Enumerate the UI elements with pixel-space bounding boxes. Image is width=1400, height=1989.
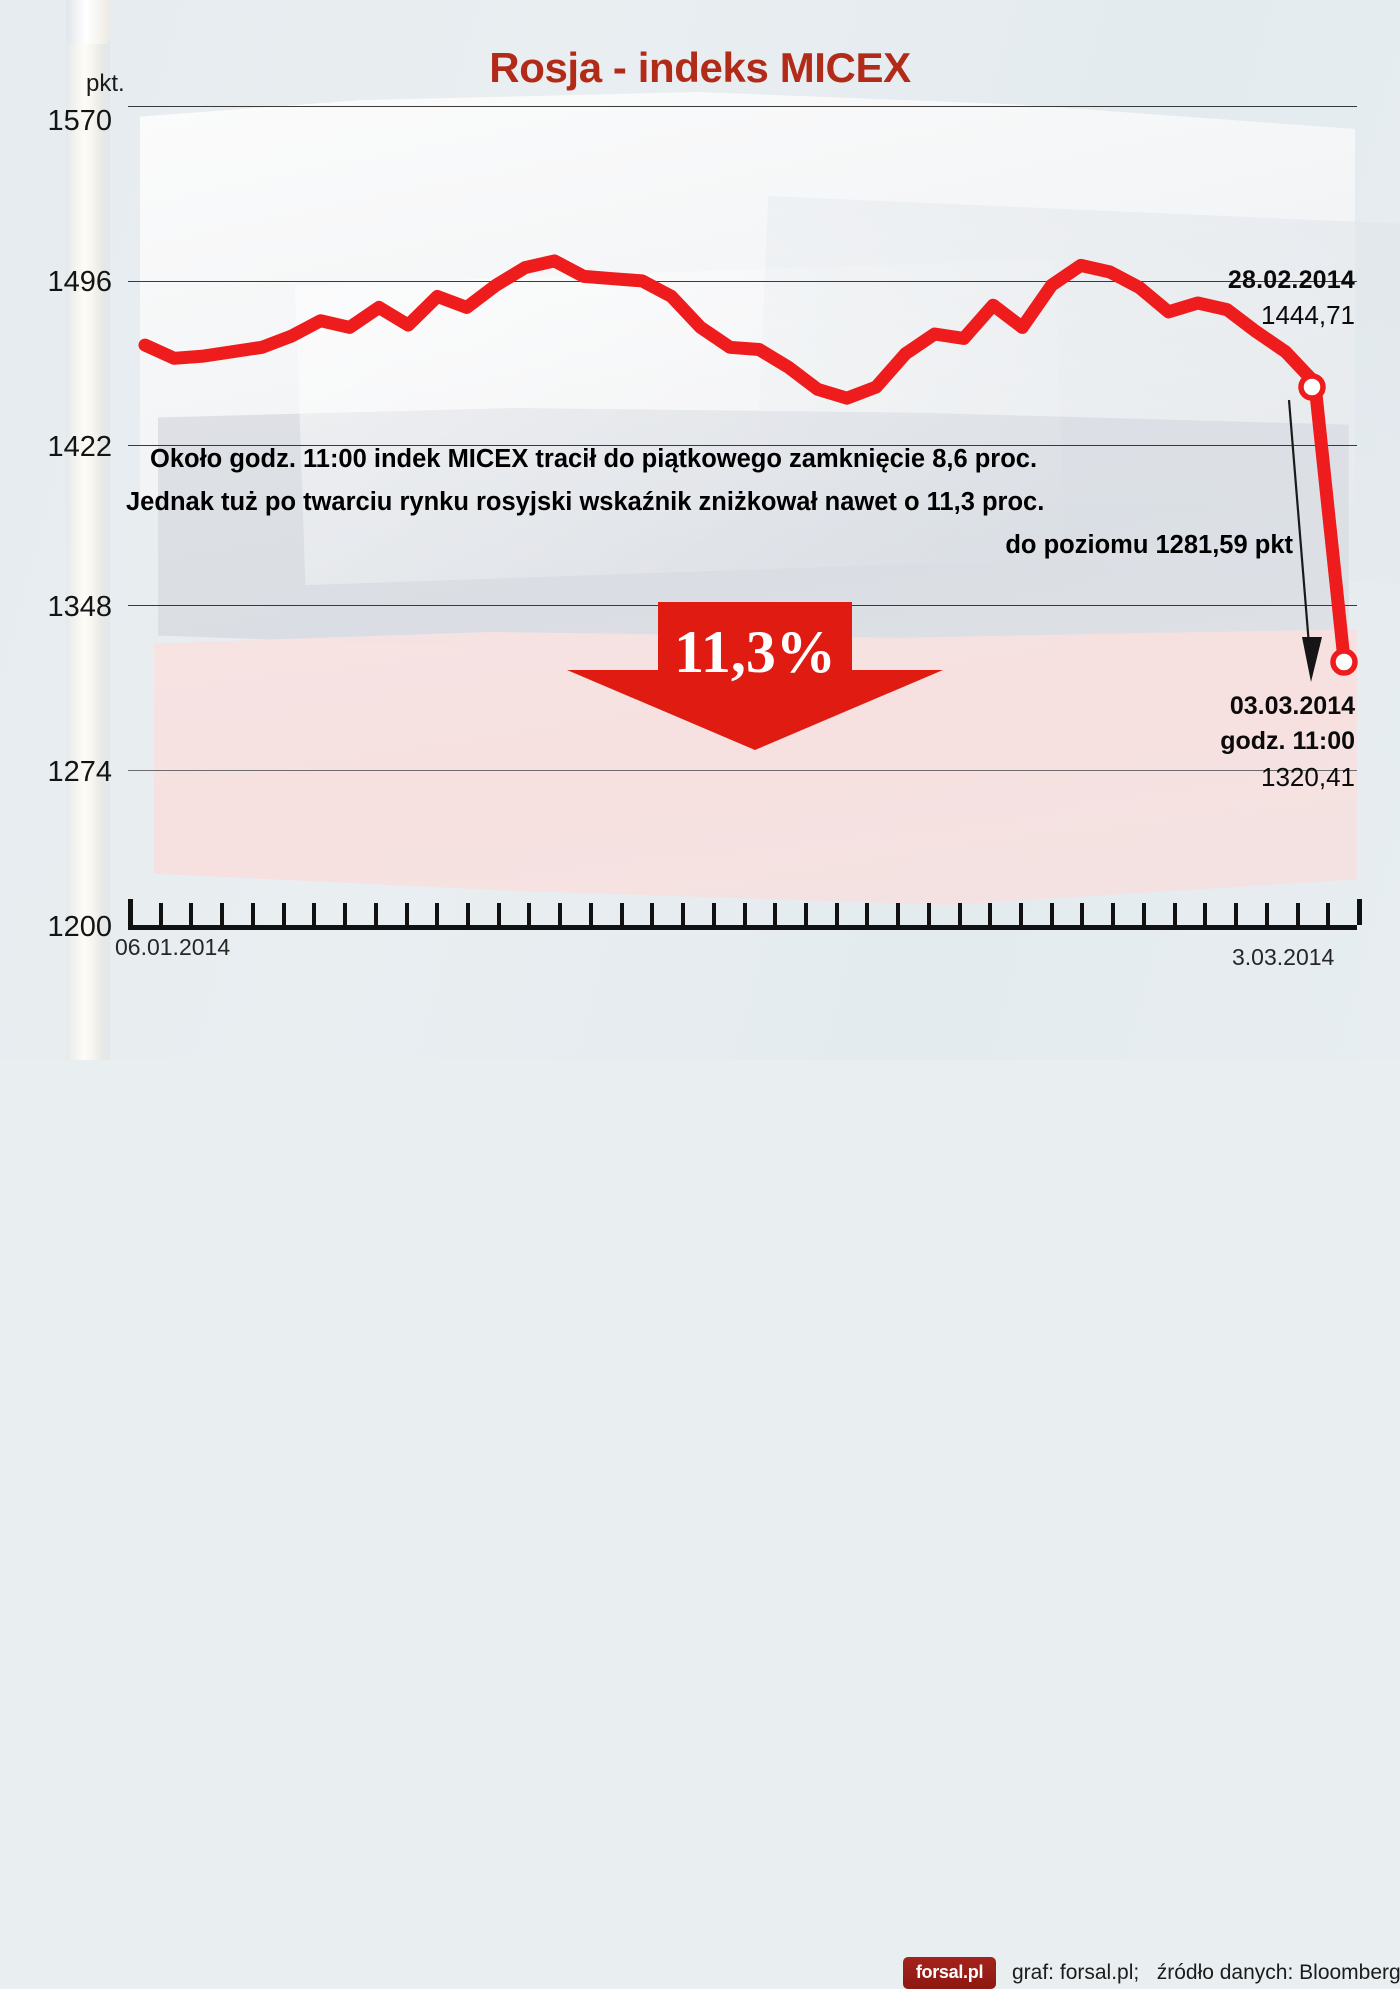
x-axis-tick xyxy=(1080,903,1084,925)
x-axis-tick xyxy=(1050,903,1054,925)
x-axis-tick xyxy=(558,903,562,925)
x-axis-tick xyxy=(343,903,347,925)
x-axis-tick xyxy=(712,903,716,925)
x-axis-tick xyxy=(251,903,255,925)
x-axis-tick xyxy=(374,903,378,925)
x-axis-tick xyxy=(312,903,316,925)
x-axis-tick xyxy=(927,903,931,925)
x-axis-line xyxy=(128,925,1357,930)
x-axis-tick xyxy=(189,903,193,925)
callout-current-value: 03.03.2014 godz. 11:00 1320,41 xyxy=(1105,692,1355,793)
annotation-line-3: do poziomu 1281,59 pkt xyxy=(120,524,1295,567)
x-axis-tick xyxy=(405,903,409,925)
forsal-logo-text: forsal.pl xyxy=(916,1962,983,1982)
source-credit: graf: forsal.pl; źródło danych: Bloomber… xyxy=(1012,1961,1400,1985)
x-axis-tick xyxy=(681,903,685,925)
footer: forsal.pl graf: forsal.pl; źródło danych… xyxy=(0,975,1400,1025)
x-axis-tick xyxy=(497,903,501,925)
x-axis-tick xyxy=(988,903,992,925)
x-axis-label-end: 3.03.2014 xyxy=(1232,944,1334,971)
callout-current-price: 1320,41 xyxy=(1105,762,1355,793)
x-axis-tick xyxy=(804,903,808,925)
callout-current-time: godz. 11:00 xyxy=(1105,727,1355,756)
chart-canvas: Rosja - indeks MICEX pkt. 1570 1496 1422… xyxy=(0,0,1400,1060)
callout-current-date: 03.03.2014 xyxy=(1105,692,1355,721)
forsal-logo[interactable]: forsal.pl xyxy=(903,1957,996,1989)
callout-previous-date: 28.02.2014 xyxy=(1105,266,1355,295)
x-axis-tick xyxy=(773,903,777,925)
x-axis-tick xyxy=(1111,903,1115,925)
x-axis-tick xyxy=(128,899,133,925)
x-axis-tick xyxy=(466,903,470,925)
decline-arrow-badge: 11,3% xyxy=(565,602,945,752)
marker-previous-close xyxy=(1301,376,1323,398)
x-axis-tick xyxy=(1203,903,1207,925)
x-axis-tick xyxy=(435,903,439,925)
x-axis-tick xyxy=(1142,903,1146,925)
x-axis-tick xyxy=(1357,899,1362,925)
x-axis-tick xyxy=(1326,903,1330,925)
x-axis-tick xyxy=(835,903,839,925)
x-axis-tick xyxy=(620,903,624,925)
x-axis-tick xyxy=(958,903,962,925)
x-axis-tick xyxy=(527,903,531,925)
x-axis-tick xyxy=(159,903,163,925)
chart-annotation-text: Około godz. 11:00 indek MICEX tracił do … xyxy=(120,438,1295,567)
x-axis-tick xyxy=(1296,903,1300,925)
x-axis-label-start: 06.01.2014 xyxy=(115,934,230,961)
x-axis-tick xyxy=(1234,903,1238,925)
x-axis-tick xyxy=(282,903,286,925)
x-axis-tick xyxy=(650,903,654,925)
annotation-line-2: Jednak tuż po twarciu rynku rosyjski wsk… xyxy=(120,481,1295,524)
x-axis-tick xyxy=(1265,903,1269,925)
x-axis-tick xyxy=(1019,903,1023,925)
callout-previous-close: 28.02.2014 1444,71 xyxy=(1105,266,1355,331)
x-axis-tick xyxy=(1173,903,1177,925)
x-axis-tick xyxy=(865,903,869,925)
decline-percent-label: 11,3% xyxy=(565,618,945,687)
x-axis-tick xyxy=(743,903,747,925)
x-axis-tick xyxy=(896,903,900,925)
x-axis-tick xyxy=(220,903,224,925)
x-axis-tick xyxy=(589,903,593,925)
annotation-line-1: Około godz. 11:00 indek MICEX tracił do … xyxy=(120,438,1295,481)
callout-previous-value: 1444,71 xyxy=(1105,300,1355,331)
marker-current-value xyxy=(1333,651,1355,673)
